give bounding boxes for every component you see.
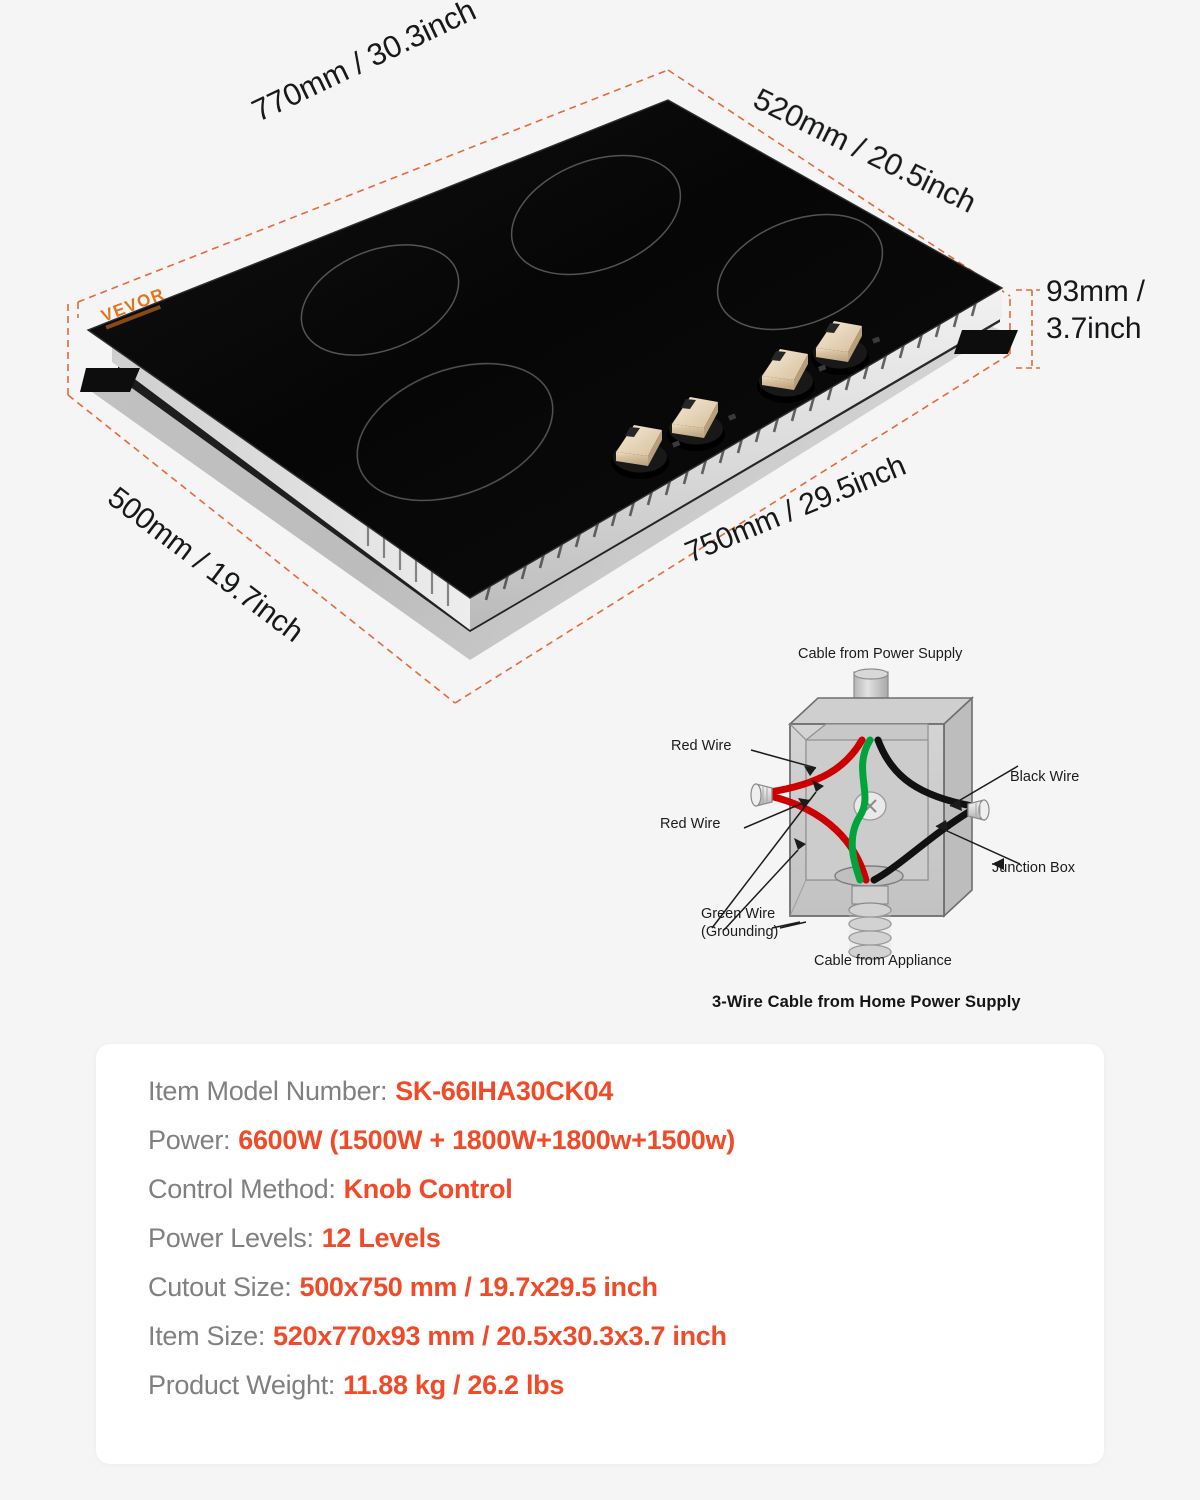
spec-label-cutout-size: Cutout Size: (148, 1274, 291, 1301)
spec-value-model: SK-66IHA30CK04 (395, 1078, 613, 1105)
spec-value-power: 6600W (1500W + 1800W+1800w+1500w) (238, 1127, 735, 1154)
spec-label-power: Power: (148, 1127, 230, 1154)
height-dimension-bracket (1016, 290, 1040, 368)
appliance-conduit (849, 886, 891, 959)
spec-row-power: Power: 6600W (1500W + 1800W+1800w+1500w) (148, 1127, 1104, 1154)
junction-box-body (790, 698, 972, 916)
spec-row-item-size: Item Size: 520x770x93 mm / 20.5x30.3x3.7… (148, 1323, 1104, 1350)
wiring-label-red-wire-2: Red Wire (660, 815, 720, 833)
spec-label-item-size: Item Size: (148, 1323, 265, 1350)
spec-row-control-method: Control Method: Knob Control (148, 1176, 1104, 1203)
spec-value-power-levels: 12 Levels (322, 1225, 441, 1252)
dimension-label-height: 93mm / 3.7inch (1046, 274, 1145, 347)
spec-row-model: Item Model Number: SK-66IHA30CK04 (148, 1078, 1104, 1105)
wiring-label-junction-box: Junction Box (992, 859, 1075, 877)
spec-value-control-method: Knob Control (344, 1176, 513, 1203)
spec-value-item-size: 520x770x93 mm / 20.5x30.3x3.7 inch (273, 1323, 727, 1350)
spec-value-cutout-size: 500x750 mm / 19.7x29.5 inch (299, 1274, 657, 1301)
wire-nut-right (968, 800, 989, 820)
spec-label-model: Item Model Number: (148, 1078, 387, 1105)
spec-row-power-levels: Power Levels: 12 Levels (148, 1225, 1104, 1252)
wiring-diagram-caption: 3-Wire Cable from Home Power Supply (712, 992, 1021, 1013)
product-spec-page: VEVOR (0, 0, 1200, 1500)
wiring-label-black-wire: Black Wire (1010, 768, 1079, 786)
spec-label-power-levels: Power Levels: (148, 1225, 314, 1252)
wiring-label-appliance-cable: Cable from Appliance (814, 952, 952, 970)
specification-card: Item Model Number: SK-66IHA30CK04 Power:… (96, 1044, 1104, 1464)
wire-nut-left (751, 784, 772, 806)
spec-row-cutout-size: Cutout Size: 500x750 mm / 19.7x29.5 inch (148, 1274, 1104, 1301)
wiring-label-power-supply: Cable from Power Supply (798, 645, 962, 663)
wiring-label-green-wire: Green Wire (Grounding) (701, 905, 778, 941)
spec-label-product-weight: Product Weight: (148, 1372, 335, 1399)
spec-value-product-weight: 11.88 kg / 26.2 lbs (343, 1372, 564, 1399)
spec-label-control-method: Control Method: (148, 1176, 336, 1203)
wiring-label-red-wire-1: Red Wire (671, 737, 731, 755)
spec-row-product-weight: Product Weight: 11.88 kg / 26.2 lbs (148, 1372, 1104, 1399)
